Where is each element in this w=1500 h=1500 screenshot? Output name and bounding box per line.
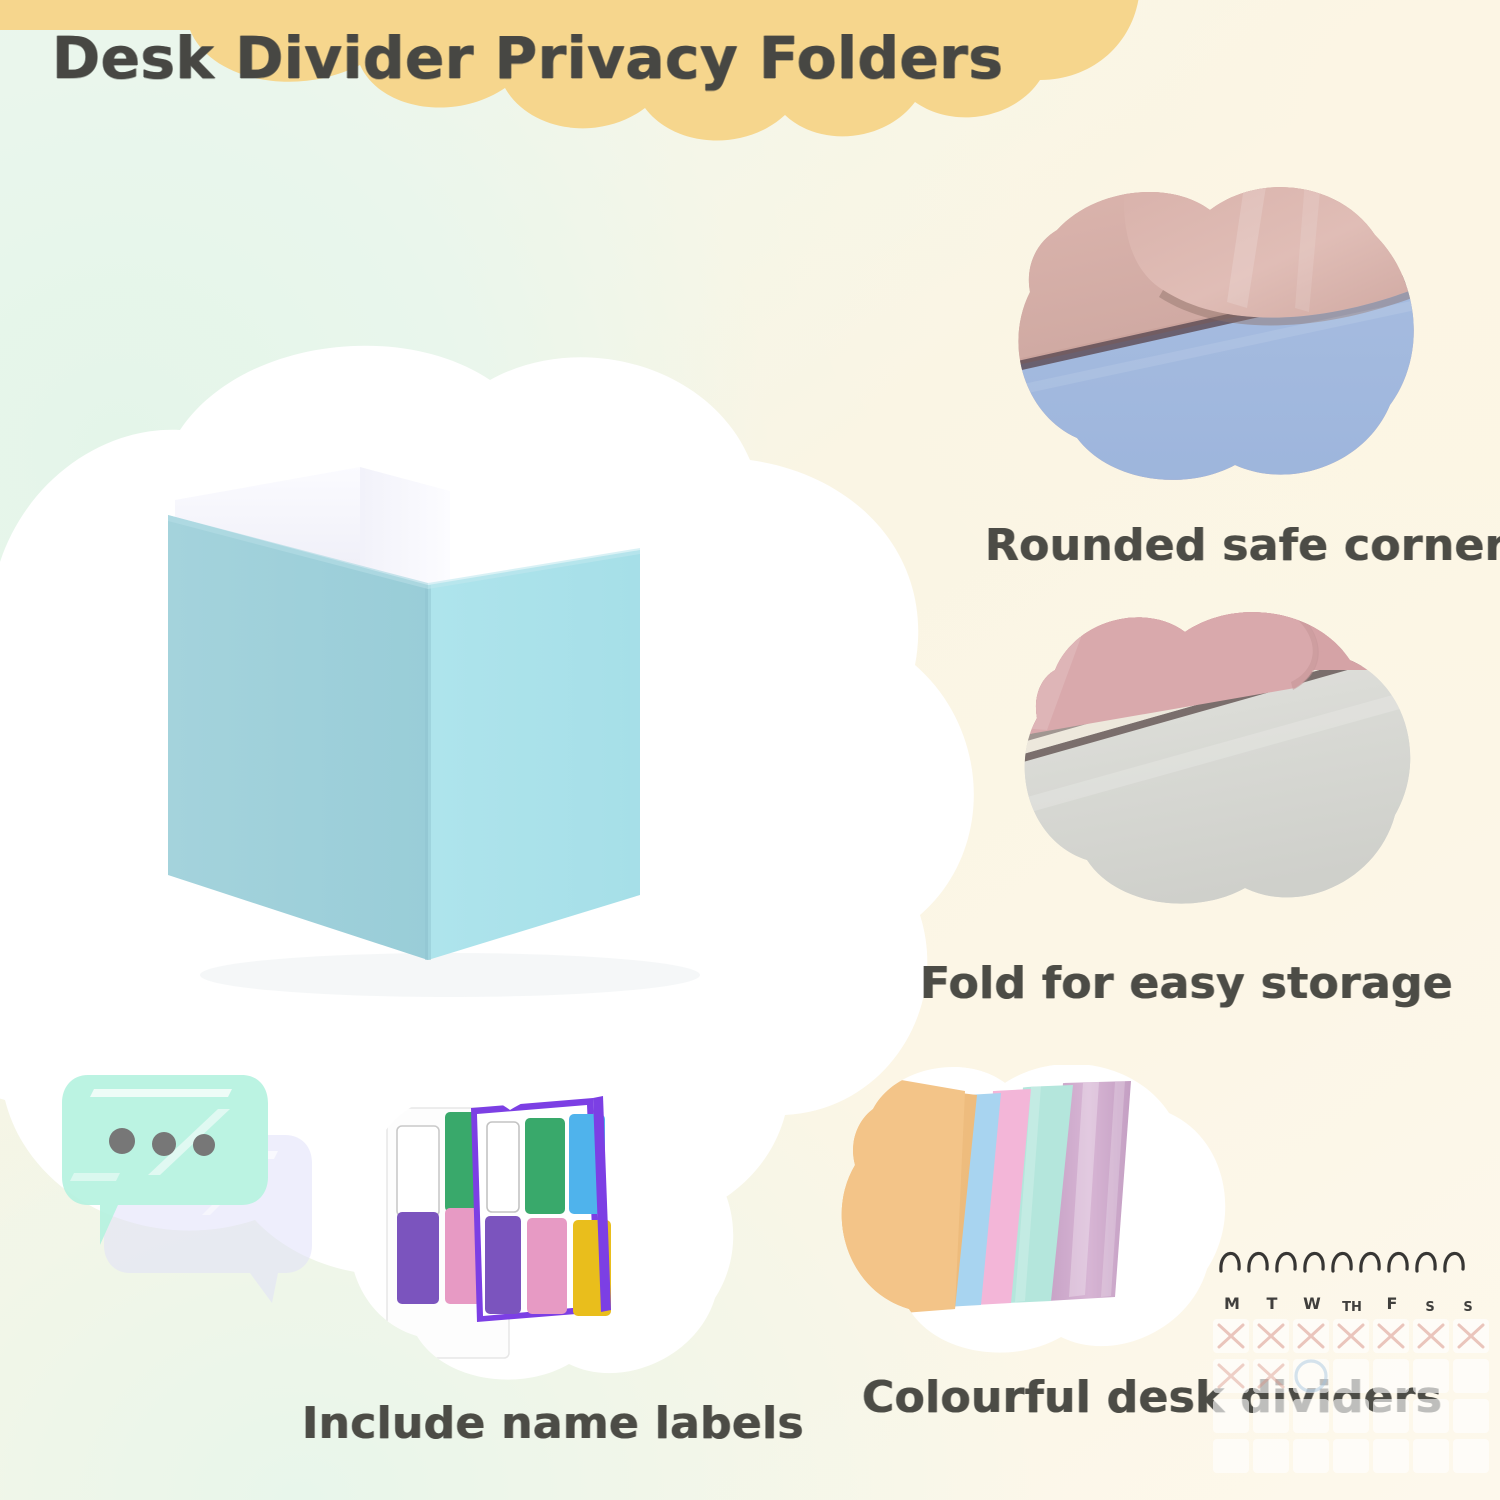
caption-fold-for-easy-storage: Fold for easy storage [920,958,1453,1009]
desk-divider-product-illustration [120,455,820,1015]
feature-photo-rounded-safe-corner [995,180,1425,490]
caption-rounded-safe-corner: Rounded safe corner [985,520,1500,571]
feature-photo-include-name-labels [325,1090,745,1390]
feature-photo-fold-for-easy-storage [995,610,1425,910]
caption-include-name-labels: Include name labels [302,1398,804,1449]
typing-indicator-bubbles-icon [60,1055,360,1325]
svg-text:W: W [1303,1294,1321,1313]
svg-text:S: S [1425,1300,1434,1315]
page-title: Desk Divider Privacy Folders [52,24,1003,92]
weekly-planner-watermark-icon: M T W TH F S S [1205,1235,1495,1500]
svg-text:TH: TH [1342,1300,1362,1315]
svg-text:S: S [1463,1300,1472,1315]
svg-text:T: T [1267,1294,1278,1313]
feature-photo-colourful-desk-dividers [815,1065,1235,1365]
svg-text:M: M [1224,1294,1240,1313]
svg-text:F: F [1387,1294,1398,1313]
